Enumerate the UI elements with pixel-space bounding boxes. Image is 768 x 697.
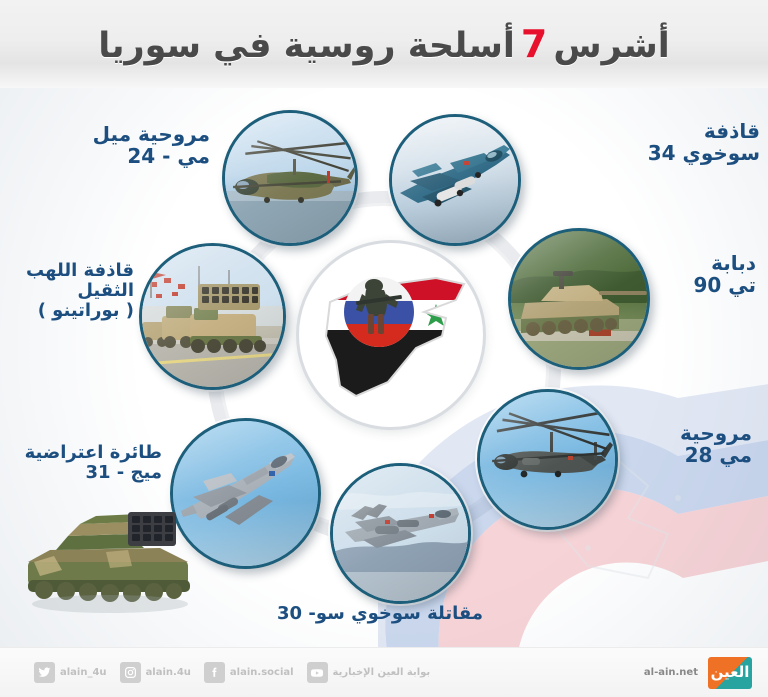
bubble-t90[interactable] bbox=[508, 228, 650, 370]
twitter-icon bbox=[34, 662, 55, 683]
title-part-after: أسلحة روسية في سوريا bbox=[98, 26, 515, 66]
social-youtube[interactable]: بوابة العين الإخبارية bbox=[307, 662, 431, 683]
label-su34: قاذفة سوخوي 34 bbox=[640, 120, 760, 165]
twitter-handle: alain_4u bbox=[60, 667, 107, 678]
site-url[interactable]: al-ain.net bbox=[644, 667, 698, 678]
social-instagram[interactable]: alain.4u bbox=[120, 662, 191, 683]
instagram-handle: alain.4u bbox=[146, 667, 191, 678]
bubble-su34[interactable] bbox=[389, 114, 521, 246]
tos-1-buratino-photo bbox=[142, 246, 283, 387]
title-number: 7 bbox=[515, 22, 553, 66]
youtube-icon bbox=[307, 662, 328, 683]
su-34-bomber-photo bbox=[392, 117, 518, 243]
facebook-handle: alain.social bbox=[230, 667, 294, 678]
social-links: alain_4u alain.4u alain.social بوابة الع… bbox=[0, 662, 430, 683]
bubble-su30[interactable] bbox=[330, 463, 471, 604]
bubble-buratino[interactable] bbox=[139, 243, 286, 390]
bubble-mi28[interactable] bbox=[477, 389, 618, 530]
mi-28-helicopter-photo bbox=[480, 392, 615, 527]
label-mi24: مروحية ميل مي - 24 bbox=[60, 123, 210, 168]
alain-logo[interactable]: العين bbox=[708, 657, 752, 689]
label-buratino: قاذفة اللهب الثقيل ( بوراتينو ) bbox=[0, 261, 134, 321]
infographic-canvas: بوابة العين الإخبارية bbox=[0, 88, 768, 648]
instagram-icon bbox=[120, 662, 141, 683]
facebook-icon bbox=[204, 662, 225, 683]
t-90-tank-photo bbox=[511, 231, 647, 367]
brand-area: al-ain.net العين bbox=[644, 657, 768, 689]
label-t90: دبابة تي 90 bbox=[646, 252, 756, 297]
label-mig31: طائرة اعتراضية ميج - 31 bbox=[12, 443, 162, 483]
footer-bar: alain_4u alain.4u alain.social بوابة الع… bbox=[0, 647, 768, 697]
syria-russia-emblem-graphic bbox=[296, 240, 486, 430]
label-su30: مقاتلة سوخوي سو- 30 bbox=[255, 604, 505, 624]
page-title: أشرس7أسلحة روسية في سوريا bbox=[98, 25, 670, 64]
logo-text: العين bbox=[711, 665, 750, 680]
youtube-channel-name: بوابة العين الإخبارية bbox=[333, 667, 431, 678]
header-bar: أشرس7أسلحة روسية في سوريا bbox=[0, 0, 768, 89]
mi-24-helicopter-photo bbox=[225, 113, 355, 243]
label-mi28: مروحية مي 28 bbox=[620, 422, 752, 467]
center-emblem[interactable] bbox=[296, 240, 486, 430]
infographic-root: أشرس7أسلحة روسية في سوريا بوابة العين ال… bbox=[0, 0, 768, 697]
tos-1-launcher-vehicle bbox=[10, 492, 210, 617]
social-facebook[interactable]: alain.social bbox=[204, 662, 294, 683]
su-30-fighter-photo bbox=[333, 466, 468, 601]
title-part-before: أشرس bbox=[553, 26, 669, 66]
social-twitter[interactable]: alain_4u bbox=[34, 662, 107, 683]
bubble-mi24[interactable] bbox=[222, 110, 358, 246]
